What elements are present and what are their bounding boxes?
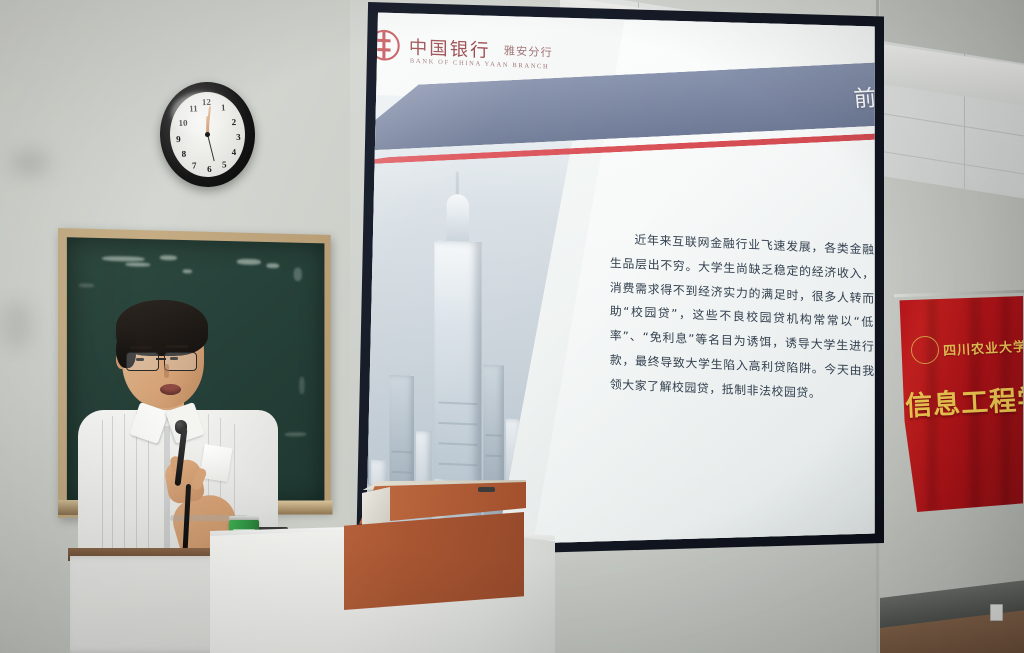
eyeglasses-lens: [126, 352, 159, 371]
university-seal-icon: [911, 336, 939, 364]
presenter-eyebrow: [166, 345, 188, 348]
projection-screen: 中国银行 雅安分行 BANK OF CHINA YAAN BRANCH 前言 近…: [334, 2, 884, 558]
classroom-presentation-photo: 12 1 2 3 4 5 6 7 8 9 10 11: [0, 0, 1024, 653]
clock-second-hand: [207, 135, 215, 161]
logo-chinese-branch: 雅安分行: [504, 42, 553, 60]
clock-numeral: 2: [231, 117, 236, 127]
wall-clock: 12 1 2 3 4 5 6 7 8 9 10 11: [158, 80, 257, 188]
wall-smudge: [10, 150, 50, 176]
clock-numeral: 5: [222, 159, 227, 169]
presenter-mouth: [160, 384, 181, 395]
slide-body-text: 近年来互联网金融行业飞速发展，各类金融衍生品层出不穷。大学生尚缺乏稳定的经济收入…: [610, 227, 884, 409]
clock-numeral: 7: [192, 160, 197, 170]
eyeglasses-bridge: [156, 358, 166, 360]
clock-numeral: 4: [231, 147, 236, 157]
clock-numeral: 9: [176, 134, 181, 144]
clock-numeral: 3: [236, 132, 241, 142]
banner-university-name: 四川农业大学: [943, 336, 1024, 359]
university-banner: 四川农业大学 信息工程学院: [897, 296, 1023, 512]
lectern-hinge: [478, 487, 495, 492]
wooden-lectern: [344, 512, 524, 610]
wall-outlet: [990, 604, 1003, 621]
banner-college-name: 信息工程学院: [904, 376, 1024, 424]
presenter-eyebrow: [130, 346, 152, 349]
presenter-nose: [164, 364, 169, 378]
wall-smudge: [0, 300, 34, 350]
lectern-interior: [362, 487, 390, 527]
presentation-slide: 中国银行 雅安分行 BANK OF CHINA YAAN BRANCH 前言 近…: [334, 2, 884, 558]
clock-numeral: 6: [207, 164, 212, 174]
clock-numeral: 8: [181, 149, 186, 159]
